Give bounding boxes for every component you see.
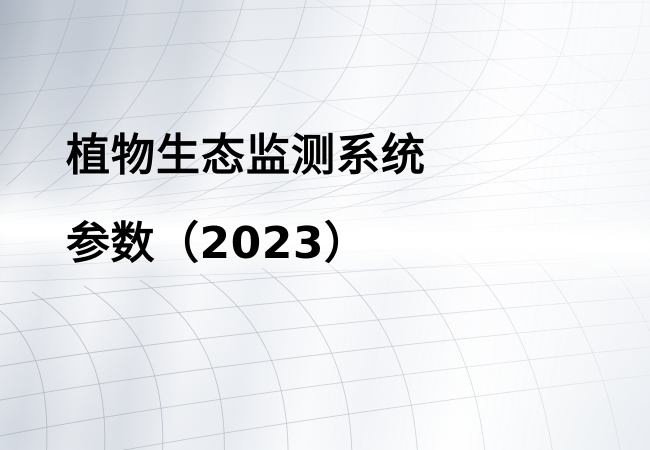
slide-title-line-2: 参数（2023） <box>66 200 626 288</box>
slide-title: 植物生态监测系统 参数（2023） <box>66 112 626 288</box>
slide-title-line-1: 植物生态监测系统 <box>66 112 626 200</box>
title-slide: 植物生态监测系统 参数（2023） <box>0 0 650 450</box>
